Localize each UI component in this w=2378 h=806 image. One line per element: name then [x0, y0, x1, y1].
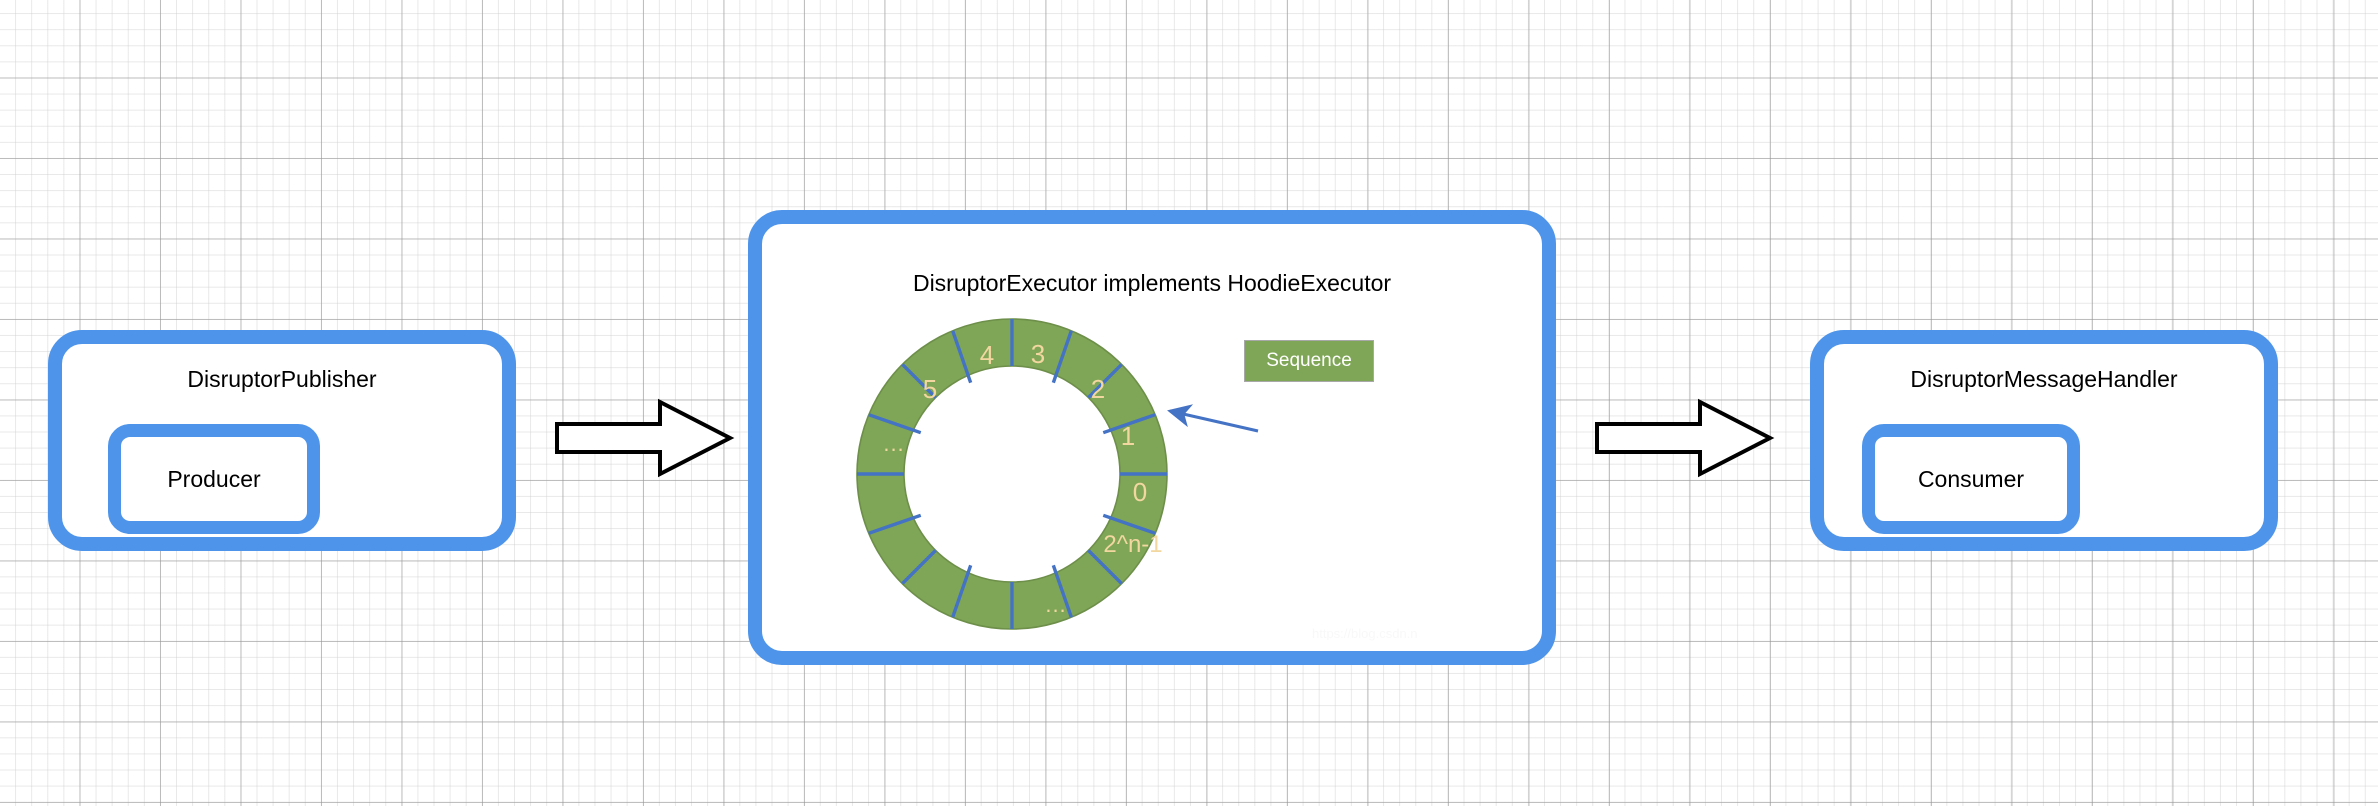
- disruptor-executor-title: DisruptorExecutor implements HoodieExecu…: [762, 270, 1542, 297]
- ring-buffer-svg: [852, 314, 1172, 634]
- sequence-arrow-icon: [1162, 286, 1362, 606]
- disruptor-message-handler-title: DisruptorMessageHandler: [1824, 366, 2264, 393]
- ring-buffer: 0 1 2 3 4 5 ... ... 2^n-1: [852, 314, 1172, 634]
- sequence-pointer-arrow: [1162, 286, 1362, 606]
- block-arrow-right-icon: [552, 398, 736, 478]
- arrow-executor-to-handler: [1592, 398, 1776, 478]
- block-arrow-right-icon-2: [1592, 398, 1776, 478]
- sequence-label: Sequence: [1266, 350, 1352, 372]
- diagram-canvas: DisruptorPublisher Producer DisruptorExe…: [0, 0, 2378, 806]
- consumer-label: Consumer: [1875, 466, 2067, 493]
- watermark-text: https://blog.csdn.n: [1312, 626, 1418, 641]
- disruptor-executor-box: DisruptorExecutor implements HoodieExecu…: [748, 210, 1556, 665]
- disruptor-publisher-title: DisruptorPublisher: [62, 366, 502, 393]
- producer-label: Producer: [121, 466, 307, 493]
- producer-box: Producer: [108, 424, 320, 534]
- disruptor-publisher-box: DisruptorPublisher Producer: [48, 330, 516, 551]
- consumer-box: Consumer: [1862, 424, 2080, 534]
- arrow-publisher-to-executor: [552, 398, 736, 478]
- disruptor-message-handler-box: DisruptorMessageHandler Consumer: [1810, 330, 2278, 551]
- sequence-label-box: Sequence: [1244, 340, 1374, 382]
- ring-dividers: [857, 319, 1167, 629]
- ring-buffer-ring: [857, 319, 1167, 629]
